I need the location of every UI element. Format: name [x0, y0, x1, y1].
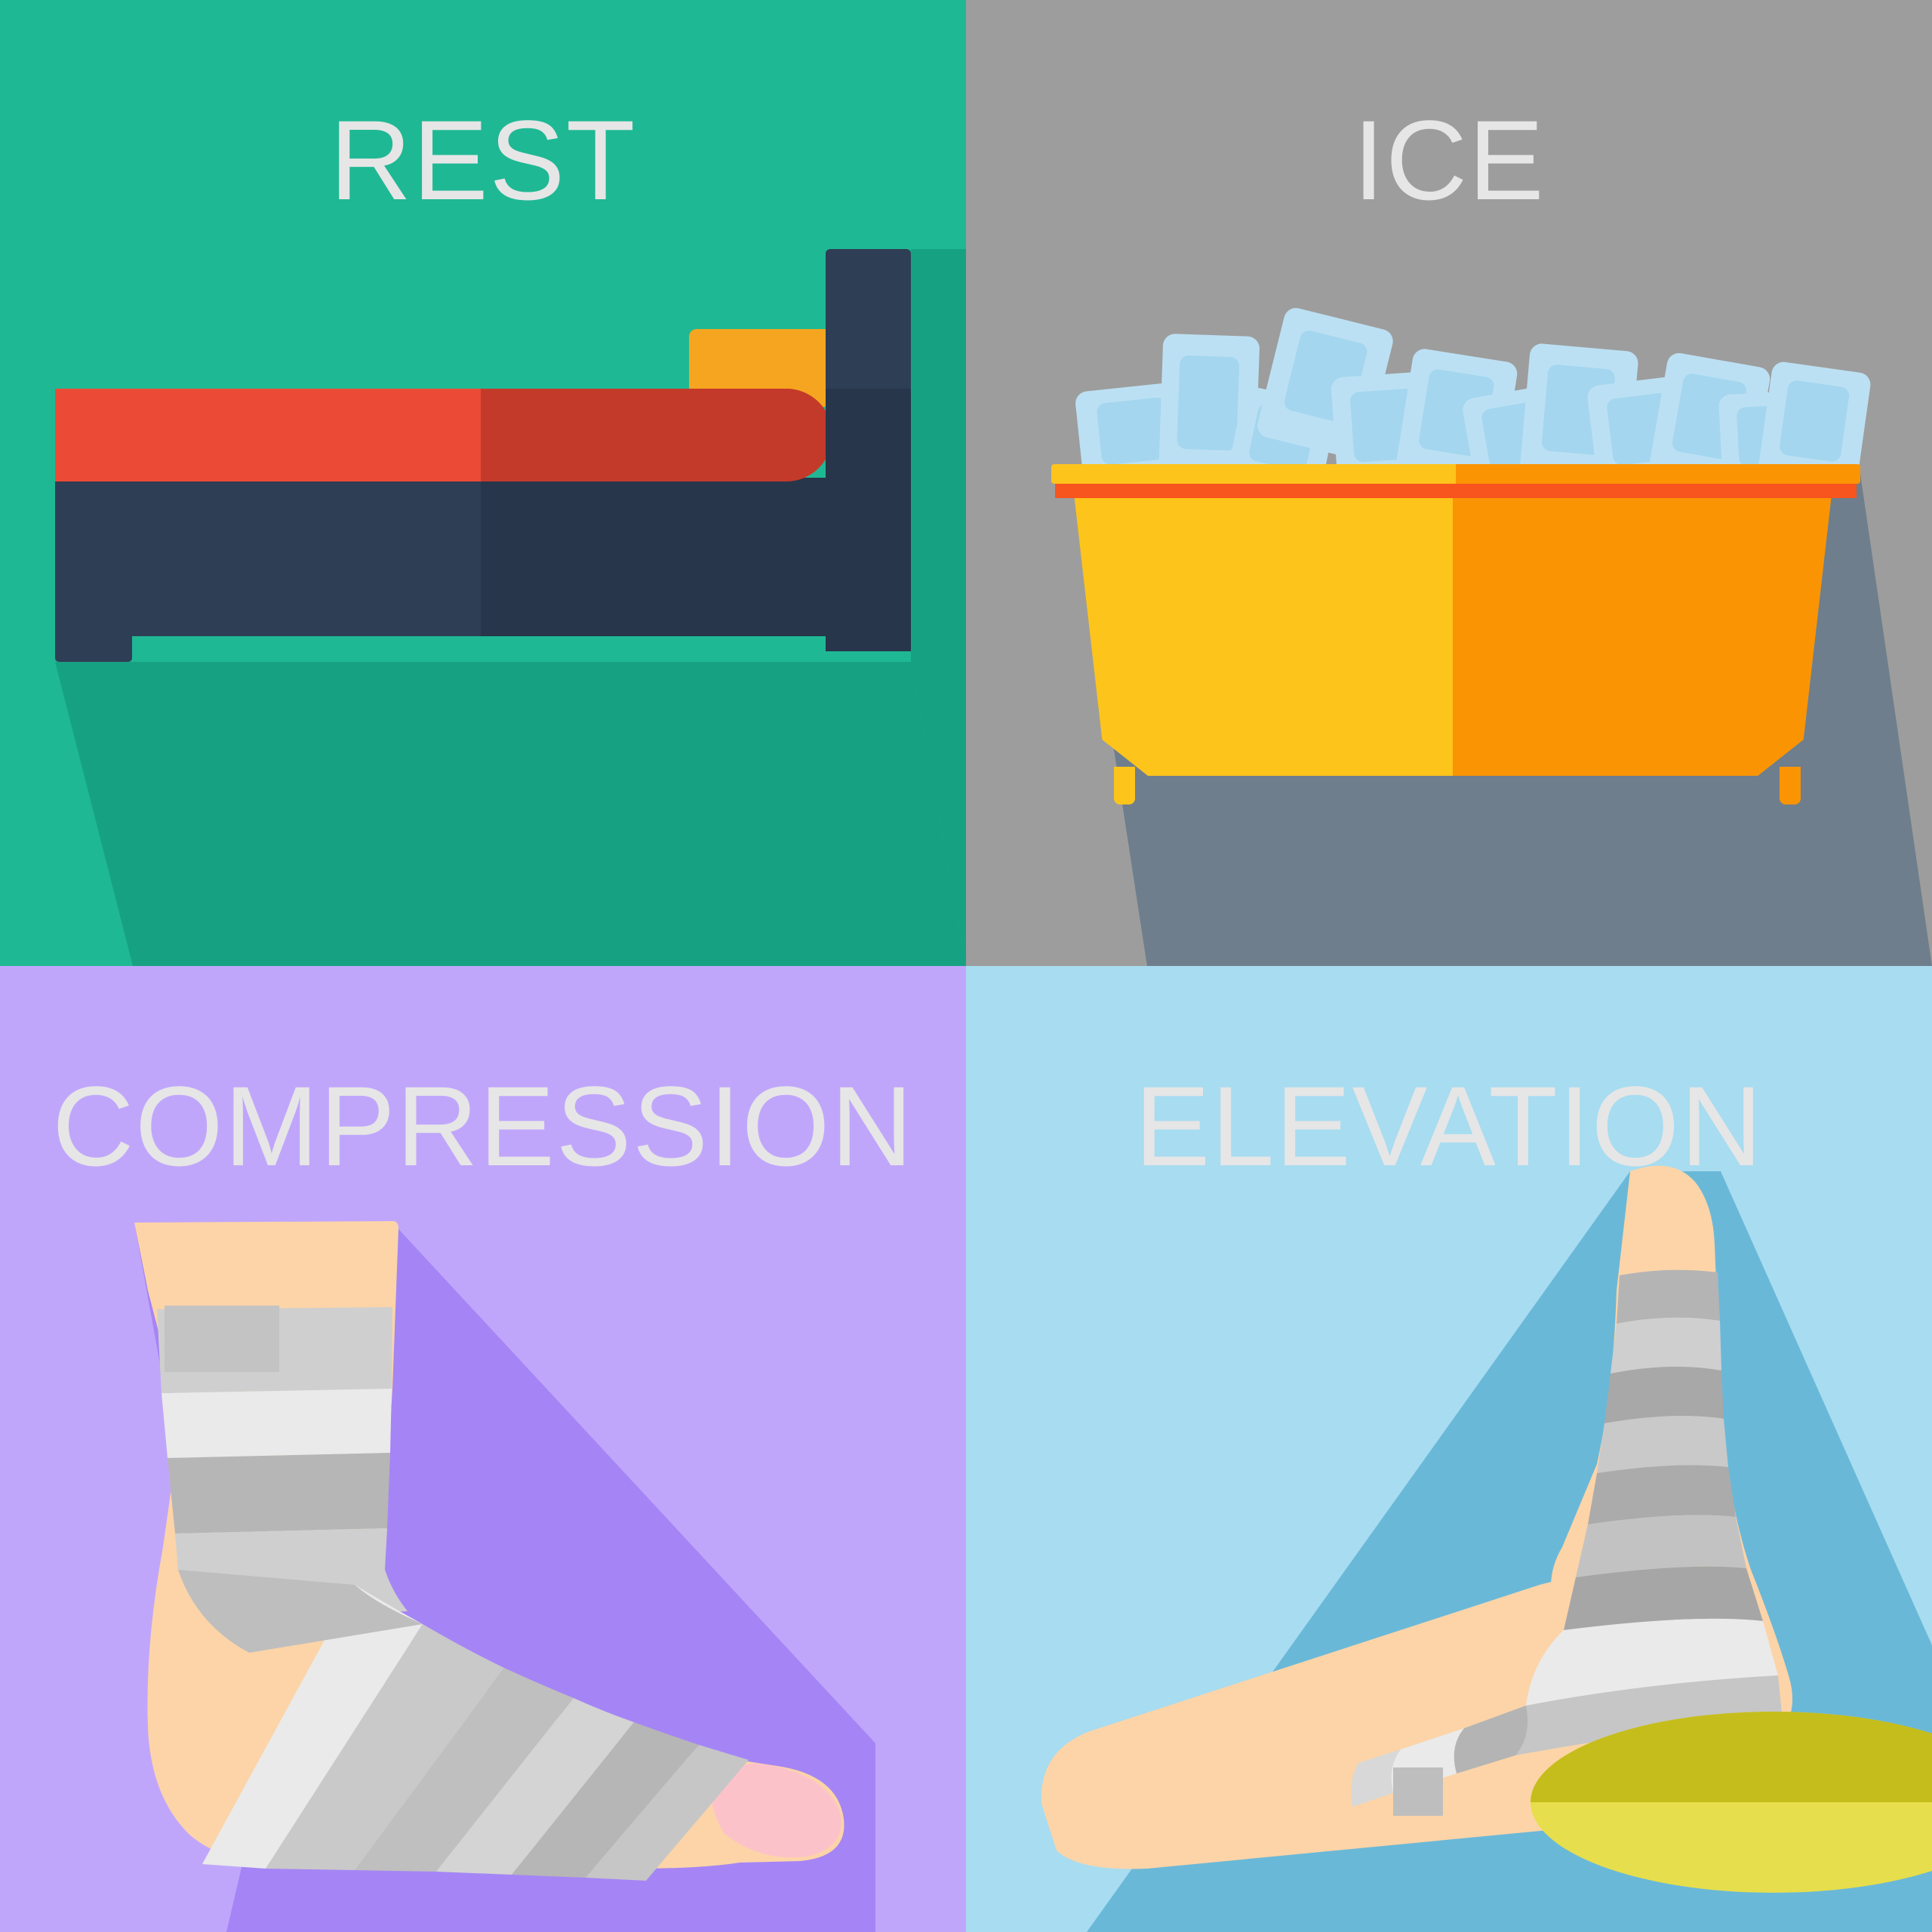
panel-ice[interactable]: ICE: [966, 0, 1932, 966]
tub-body-shade: [1453, 474, 1834, 776]
panel-rest[interactable]: REST: [0, 0, 966, 966]
tub-foot: [1780, 767, 1801, 804]
panel-title-ice: ICE: [966, 76, 1932, 217]
panel-title-rest: REST: [0, 76, 966, 217]
ice-cube-highlight: [1177, 355, 1240, 451]
tub-stripe: [1055, 484, 1857, 498]
bed-base-shade: [481, 478, 832, 636]
rice-poster: REST ICE: [0, 0, 1932, 1932]
tub-rim-shade: [1456, 464, 1860, 484]
bed-mattress-shade: [481, 389, 832, 481]
panel-elevation[interactable]: ELEVATION: [966, 966, 1932, 1932]
panel-title-elevation: ELEVATION: [966, 1042, 1932, 1183]
panel-compression[interactable]: COMPRESSION: [0, 966, 966, 1932]
bed-headboard-shade: [826, 389, 911, 651]
ice-cube-highlight: [1778, 380, 1850, 463]
bed-leg-left: [55, 629, 132, 662]
panel-title-compression: COMPRESSION: [0, 1042, 966, 1183]
tub-foot: [1114, 767, 1135, 804]
